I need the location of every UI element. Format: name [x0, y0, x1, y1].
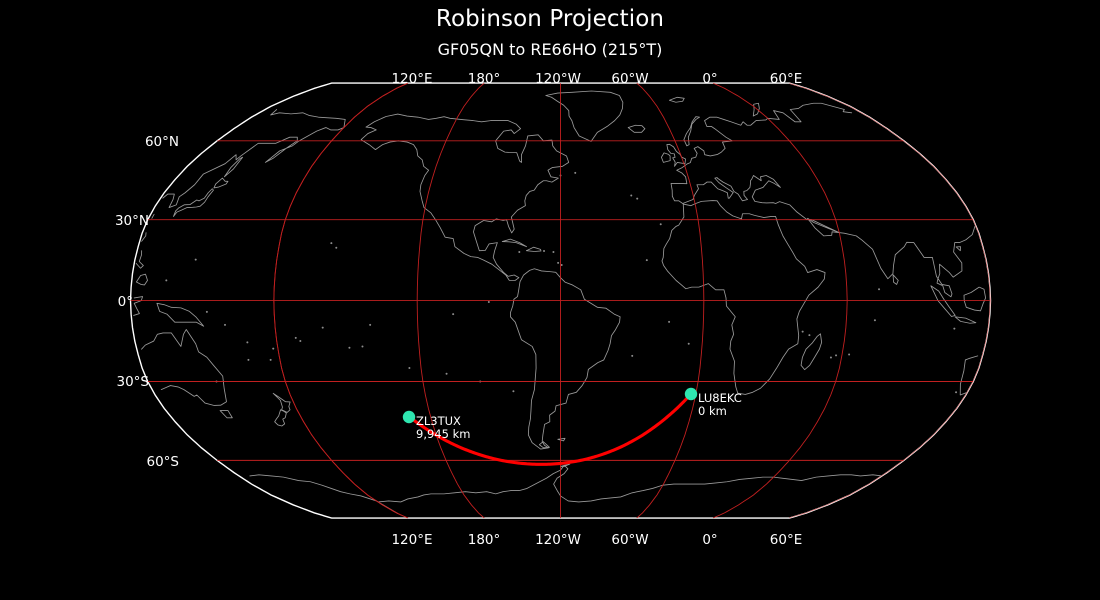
- coastline-segment: [801, 334, 822, 370]
- island-dot: [848, 354, 850, 356]
- lon-tick-bottom-3: 60°W: [611, 532, 648, 548]
- coastline-segment: [134, 297, 143, 316]
- lat-tick-3: 30°S: [117, 374, 150, 390]
- coastline-segment: [661, 153, 670, 163]
- island-dot: [835, 354, 837, 356]
- station-marker-zl3tux[interactable]: [403, 411, 415, 423]
- lon-tick-top-2: 120°W: [535, 71, 581, 87]
- coastline-segment: [628, 125, 645, 132]
- coastline-segment: [956, 247, 960, 251]
- station-label-zl3tux: ZL3TUX9,945 km: [416, 415, 470, 440]
- lon-tick-top-3: 60°W: [611, 71, 648, 87]
- coastline-segment: [526, 247, 541, 251]
- coastline-segment: [964, 287, 986, 311]
- island-dot: [246, 341, 248, 343]
- coastline-segment: [669, 97, 684, 102]
- island-dot: [247, 359, 249, 361]
- coastline-segment: [224, 157, 242, 177]
- island-dot: [446, 373, 448, 375]
- lon-tick-bottom-5: 60°E: [770, 532, 802, 548]
- lon-tick-bottom-1: 180°: [468, 532, 501, 548]
- lon-tick-top-0: 120°E: [391, 71, 432, 87]
- island-dot: [630, 194, 632, 196]
- island-dot: [688, 343, 690, 345]
- coastline-segment: [510, 269, 620, 449]
- coastline-segment: [157, 303, 204, 326]
- island-dot: [348, 347, 350, 349]
- island-dot: [636, 198, 638, 200]
- island-dot: [518, 251, 520, 253]
- world-map-canvas: [0, 0, 1100, 600]
- coastline-segment: [136, 251, 143, 269]
- island-dot: [552, 251, 554, 253]
- coastline-segment: [893, 275, 898, 285]
- coastline-segment: [173, 189, 213, 217]
- coastline-segment: [273, 393, 290, 412]
- coastlines: [134, 91, 987, 513]
- island-dot: [165, 279, 167, 281]
- station-distance: 0 km: [698, 405, 742, 418]
- island-dot: [878, 288, 880, 290]
- island-dot: [272, 348, 274, 350]
- island-dot: [874, 319, 876, 321]
- station-distance: 9,945 km: [416, 428, 470, 441]
- coastline-segment: [753, 103, 759, 116]
- island-dot: [452, 313, 454, 315]
- lat-tick-4: 60°S: [147, 454, 180, 470]
- island-dot: [335, 247, 337, 249]
- coastline-segment: [662, 201, 825, 395]
- island-dot: [195, 259, 197, 261]
- coastline-segment: [214, 178, 228, 188]
- island-dot: [224, 324, 226, 326]
- island-dot: [802, 331, 804, 333]
- station-marker-lu8ekc[interactable]: [685, 388, 697, 400]
- coastline-segment: [955, 317, 976, 323]
- station-label-lu8ekc: LU8EKC0 km: [698, 392, 742, 417]
- lon-tick-bottom-0: 120°E: [391, 532, 432, 548]
- station-callsign: LU8EKC: [698, 392, 742, 405]
- island-dot: [543, 250, 545, 252]
- coastline-segment: [931, 286, 955, 317]
- coastline-segment: [250, 475, 398, 514]
- island-dot: [206, 311, 208, 313]
- island-dot: [330, 242, 332, 244]
- lat-tick-1: 30°N: [115, 213, 149, 229]
- island-dot: [808, 334, 810, 336]
- coastline-segment: [558, 438, 565, 441]
- island-dot: [646, 259, 648, 261]
- island-dot: [488, 301, 490, 303]
- coastline-segment: [684, 117, 700, 146]
- coastline-segment: [965, 356, 977, 360]
- lon-tick-bottom-4: 0°: [702, 532, 717, 548]
- coastline-segment: [378, 465, 882, 502]
- graticule-grid: [131, 83, 991, 518]
- coastline-segment: [275, 410, 287, 426]
- coastline-segment: [152, 214, 154, 218]
- coastline-segment: [220, 411, 232, 418]
- island-dot: [557, 262, 559, 264]
- coastline-segment: [672, 175, 975, 296]
- coastline-segment: [361, 114, 569, 280]
- island-dot: [299, 340, 301, 342]
- island-dot: [574, 172, 576, 174]
- station-callsign: ZL3TUX: [416, 415, 470, 428]
- island-dot: [830, 357, 832, 359]
- lon-tick-top-5: 60°E: [770, 71, 802, 87]
- island-dot: [369, 324, 371, 326]
- island-dot: [953, 328, 955, 330]
- island-dot: [561, 264, 563, 266]
- lon-tick-bottom-2: 120°W: [535, 532, 581, 548]
- island-dot: [955, 391, 957, 393]
- map-figure: Robinson Projection GF05QN to RE66HO (21…: [0, 0, 1100, 600]
- island-dot: [361, 345, 363, 347]
- coastline-segment: [136, 274, 147, 285]
- coastline-segment: [502, 239, 526, 247]
- lat-tick-2: 0°: [118, 294, 133, 310]
- island-dot: [322, 327, 324, 329]
- lon-tick-top-4: 0°: [702, 71, 717, 87]
- lon-tick-top-1: 180°: [468, 71, 501, 87]
- island-dot: [408, 367, 410, 369]
- island-dot: [270, 359, 272, 361]
- island-dot: [660, 223, 662, 225]
- island-dot: [668, 321, 670, 323]
- lat-tick-0: 60°N: [145, 134, 179, 150]
- island-dot: [512, 390, 514, 392]
- coastline-segment: [960, 360, 967, 395]
- coastline-segment: [546, 91, 623, 141]
- island-dot: [295, 337, 297, 339]
- island-dot: [631, 355, 633, 357]
